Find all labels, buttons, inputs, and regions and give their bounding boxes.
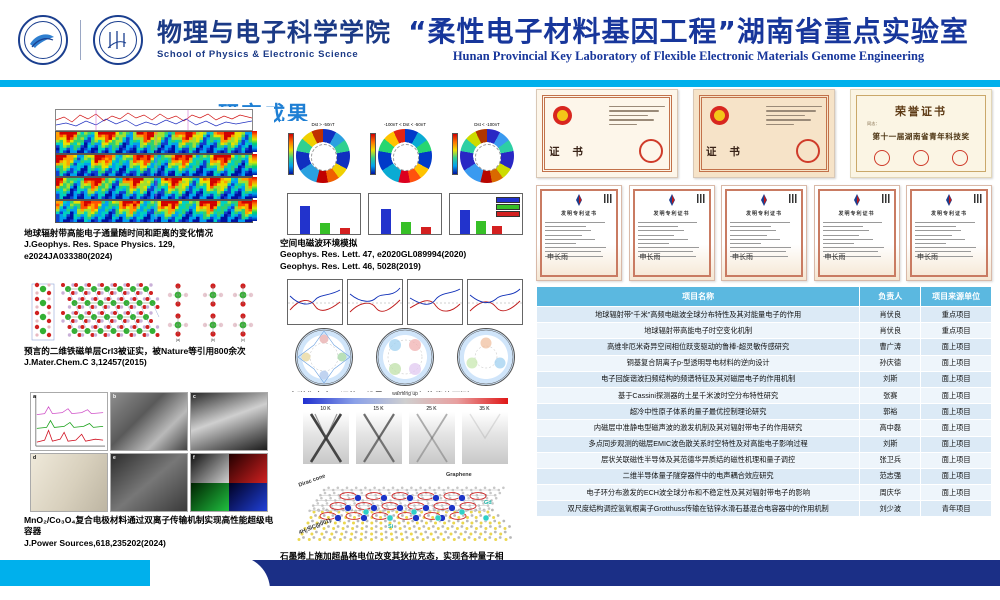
sphere-disc	[376, 328, 434, 386]
national-emblem-icon	[710, 106, 729, 125]
sphere-disc	[295, 328, 353, 386]
table-row: 内磁层中准静电型磁声波的激发机制及其对辐射带电子的作用研究高中磊面上项目	[537, 420, 992, 436]
bar-green	[401, 222, 411, 234]
cell-project-name: 内磁层中准静电型磁声波的激发机制及其对辐射带电子的作用研究	[537, 420, 860, 436]
band-panel-1	[287, 279, 343, 325]
cell-leader: 肖伏良	[860, 307, 921, 323]
swoosh-icon	[29, 30, 55, 50]
bar-red	[340, 228, 350, 234]
arpes-panel-row: 10 K 15 K	[303, 406, 508, 464]
certificate-row-patents: 发明专利证书 申长雨 发明专利证书 申长雨	[536, 185, 992, 281]
qr-code-icon	[604, 194, 613, 203]
patent-certificate-2: 发明专利证书 申长雨	[629, 185, 715, 281]
eds-quad-mn	[191, 483, 229, 512]
cell-source: 面上项目	[921, 339, 992, 355]
patent-certificate-4: 发明专利证书 申长雨	[814, 185, 900, 281]
figure-graphene-image: warming up 10 K	[280, 392, 530, 548]
figure-cri3-monolayer: (a)(b)(c) 预言的二维铁磁单层CrI3被证实，被Nature等引用800…	[24, 281, 274, 369]
arpes-panel-4: 35 K	[462, 406, 508, 464]
cell-source: 面上项目	[921, 468, 992, 484]
poster-root: 物理与电子科学学院 School of Physics & Electronic…	[0, 0, 1000, 600]
footer-navy-block	[160, 560, 1000, 586]
caption-cn: 地球辐射带高能电子通量随时间和距离的变化情况	[24, 228, 274, 239]
spectrogram-row-3	[55, 177, 253, 200]
lattice-label-gd: Gd	[484, 500, 492, 506]
figure-em-wave-env: Dst > -50nT -100nT < Dst < -50nT Dst < -…	[280, 121, 530, 272]
panel-sem-sheets: c	[190, 392, 268, 451]
patent-title: 发明专利证书	[630, 210, 714, 217]
certificate-title: 证 书	[549, 144, 588, 159]
polar-colorbar	[452, 133, 458, 175]
certificate-row-top: 证 书 证 书 荣誉证书 同志： 第十一届湖南省青年科技奖	[536, 89, 992, 178]
figure-graphene-superlattice: warming up 10 K	[280, 392, 530, 573]
cell-project-name: 电子回旋谐波扫频结构的频谱特征及其对磁层电子的作用机制	[537, 371, 860, 387]
table-row: 二维半导体量子隧穿器件中的电声耦合效应研究范志强面上项目	[537, 468, 992, 484]
school-seal-icon	[93, 15, 143, 65]
colorbar-1	[252, 131, 257, 152]
bar-panel-e	[368, 193, 442, 235]
panel-label: e	[113, 455, 116, 461]
qr-code-icon	[789, 194, 798, 203]
patent-certificate-3: 发明专利证书 申长雨	[721, 185, 807, 281]
certificate-title: 荣誉证书	[851, 103, 991, 119]
patent-signature: 申长雨	[547, 252, 568, 262]
poster-footer	[0, 560, 1000, 586]
col-leader: 负责人	[860, 287, 921, 307]
qr-code-icon	[974, 194, 983, 203]
polar-colorbar	[370, 133, 376, 175]
logo-divider	[80, 20, 81, 60]
figure-caption: 预言的二维铁磁单层CrI3被证实，被Nature等引用800余次 J.Mater…	[24, 346, 274, 369]
cell-leader: 张赛	[860, 387, 921, 403]
cnipa-logo-icon	[942, 194, 956, 206]
cell-project-name: 多点同步观测的磁层EMIC波色散关系时空特性及对高能电子影响过程	[537, 436, 860, 452]
cell-project-name: 层状关联磁性半导体及其范德华异质结的磁性机理和量子调控	[537, 452, 860, 468]
figure-cri3-image: (a)(b)(c)	[24, 281, 274, 343]
cell-project-name: 双尺度结构调控氢氧根离子Grotthuss传输在钴锌水滑石基混合电容器中的作用机…	[537, 501, 860, 517]
polar-colorbar	[288, 133, 294, 175]
panel-label: c	[193, 394, 196, 400]
lattice-schematic: 4H-SiC(0001) Graphene Gd Si Dirac cone	[296, 466, 514, 548]
patent-signature: 申长雨	[640, 252, 661, 262]
caption-ref-2: e2024JA033380(2024)	[24, 251, 274, 262]
caption-ref-2: Geophys. Res. Lett. 46, 5028(2019)	[280, 261, 530, 272]
arpes-panel-3: 25 K	[409, 406, 455, 464]
school-name-en: School of Physics & Electronic Science	[157, 49, 391, 60]
figure-caption: MnO₂/Co₃O₄复合电极材料通过双离子传输机制实现高性能超级电容器 J.Po…	[24, 515, 274, 549]
sphere-panel-1	[287, 328, 361, 388]
polar-title: Dst > -50nT	[287, 123, 359, 127]
bar-panel-f	[449, 193, 523, 235]
patent-certificate-5: 发明专利证书 申长雨	[906, 185, 992, 281]
col-project-name: 项目名称	[537, 287, 860, 307]
cell-leader: 孙庆德	[860, 355, 921, 371]
cell-project-name: 超冷中性原子体系的量子最优控制理论研究	[537, 404, 860, 420]
cell-leader: 刘斯	[860, 436, 921, 452]
figure-mno2-co3o4: a b c	[24, 392, 274, 549]
poster-body: 研究成果	[0, 89, 1000, 554]
patent-signature: 申长雨	[825, 252, 846, 262]
band-panel-2	[347, 279, 403, 325]
polar-panel-c: Dst < -100nT	[451, 123, 523, 189]
cnipa-logo-icon	[665, 194, 679, 206]
col-source: 项目来源单位	[921, 287, 992, 307]
polar-title: -100nT < Dst < -50nT	[369, 123, 441, 127]
arpes-panel-1: 10 K	[303, 406, 349, 464]
sem-panel-grid: a b c	[30, 392, 268, 512]
cell-leader: 高中磊	[860, 420, 921, 436]
cell-leader: 张卫兵	[860, 452, 921, 468]
poster-header: 物理与电子科学学院 School of Physics & Electronic…	[0, 0, 1000, 80]
patent-title: 发明专利证书	[907, 210, 991, 217]
panel-label: d	[33, 455, 36, 461]
table-row: 多点同步观测的磁层EMIC波色散关系时空特性及对高能电子影响过程刘斯面上项目	[537, 436, 992, 452]
cell-project-name: 地球辐射带高能电子时空变化机制	[537, 323, 860, 339]
certificate-title: 证 书	[706, 144, 745, 159]
certificate-seal-row	[851, 150, 991, 166]
bar-blue	[381, 209, 391, 234]
cell-source: 面上项目	[921, 387, 992, 403]
bar-blue	[460, 210, 470, 234]
polar-disc	[460, 129, 514, 183]
certificate-text-lines	[609, 106, 665, 128]
panel-xrd: a	[30, 392, 108, 451]
school-name-block: 物理与电子科学学院 School of Physics & Electronic…	[157, 20, 391, 60]
crystal-structure-diagram: (a)(b)(c)	[28, 281, 270, 343]
patent-certificate-1: 发明专利证书 申长雨	[536, 185, 622, 281]
table-row: 高维非厄米奇异空间相位跃变驱动的鲁棒-超灵敏传感研究曹广涛面上项目	[537, 339, 992, 355]
lattice-label-si: Si	[388, 524, 393, 530]
table-row: 铜基复合阴离子p-型透明导电材料的逆向设计孙庆德面上项目	[537, 355, 992, 371]
sphere-panel-3	[449, 328, 523, 388]
bar-legend	[496, 197, 520, 218]
award-certificate-1: 证 书	[536, 89, 678, 178]
colorbar-2	[252, 154, 257, 175]
caption-cn: 预言的二维铁磁单层CrI3被证实，被Nature等引用800余次	[24, 346, 274, 357]
red-stamp-icon	[639, 139, 663, 163]
patent-title: 发明专利证书	[815, 210, 899, 217]
band-panel-4	[467, 279, 523, 325]
institution-logos: 物理与电子科学学院 School of Physics & Electronic…	[0, 15, 391, 65]
certificate-subtitle: 第十一届湖南省青年科技奖	[851, 131, 991, 142]
panel-hrtem: e	[110, 453, 188, 512]
header-accent-bar	[0, 80, 1000, 87]
cell-project-name: 地球辐射带“千米”高频电磁波全球分布特性及其对能量电子的作用	[537, 307, 860, 323]
certificates-column: 证 书 证 书 荣誉证书 同志： 第十一届湖南省青年科技奖	[536, 89, 992, 281]
arpes-image	[462, 412, 508, 464]
bar-panel-row	[287, 193, 523, 235]
cell-source: 面上项目	[921, 404, 992, 420]
cell-source: 重点项目	[921, 323, 992, 339]
cell-source: 面上项目	[921, 371, 992, 387]
band-panel-row	[287, 279, 523, 325]
figure-em-wave-image: Dst > -50nT -100nT < Dst < -50nT Dst < -…	[280, 121, 530, 235]
table-row: 基于Cassini探测器的土星千米波时空分布特性研究张赛面上项目	[537, 387, 992, 403]
bar-green	[476, 221, 486, 234]
patent-signature: 申长雨	[917, 252, 938, 262]
polar-panel-a: Dst > -50nT	[287, 123, 359, 189]
table-body: 地球辐射带“千米”高频电磁波全球分布特性及其对能量电子的作用肖伏良重点项目地球辐…	[537, 307, 992, 517]
certificate-text-lines	[766, 106, 822, 128]
projects-table: 项目名称 负责人 项目来源单位 地球辐射带“千米”高频电磁波全球分布特性及其对能…	[536, 286, 992, 517]
red-stamp-icon	[796, 139, 820, 163]
spectrogram-row-4	[55, 200, 253, 223]
lab-title-cn: “柔性电子材料基因工程”湖南省重点实验室	[391, 16, 986, 47]
cell-project-name: 铜基复合阴离子p-型透明导电材料的逆向设计	[537, 355, 860, 371]
eds-quad-overview	[191, 454, 229, 483]
cell-leader: 肖伏良	[860, 323, 921, 339]
temperature-gradient-bar	[303, 398, 508, 404]
university-seal-icon	[18, 15, 68, 65]
cell-source: 面上项目	[921, 436, 992, 452]
panel-label: a	[33, 394, 36, 400]
cell-project-name: 电子环分布激发的ECH波全球分布和不稳定性及其对辐射带电子的影响	[537, 485, 860, 501]
arpes-panel-2: 15 K	[356, 406, 402, 464]
cell-source: 面上项目	[921, 420, 992, 436]
polar-panel-row: Dst > -50nT -100nT < Dst < -50nT Dst < -…	[287, 123, 523, 189]
svg-text:(a): (a)	[176, 338, 180, 342]
cell-source: 青年项目	[921, 501, 992, 517]
honor-certificate: 荣誉证书 同志： 第十一届湖南省青年科技奖	[850, 89, 992, 178]
cell-source: 面上项目	[921, 355, 992, 371]
figure-qah-image	[280, 279, 530, 388]
cnipa-logo-icon	[572, 194, 586, 206]
panel-eds-mapping: f	[190, 453, 268, 512]
cell-leader: 刘少波	[860, 501, 921, 517]
cell-source: 面上项目	[921, 452, 992, 468]
cnipa-logo-icon	[850, 194, 864, 206]
qr-code-icon	[882, 194, 891, 203]
eds-quad-o	[229, 483, 267, 512]
caption-ref-1: Geophys. Res. Lett. 47, e2020GL089994(20…	[280, 249, 530, 260]
arpes-image	[303, 412, 349, 464]
bar-blue	[300, 206, 310, 234]
sphere-panel-2	[368, 328, 442, 388]
caption-ref-1: J.Mater.Chem.C 3,12457(2015)	[24, 357, 274, 368]
patent-title: 发明专利证书	[722, 210, 806, 217]
table-row: 地球辐射带高能电子时空变化机制肖伏良重点项目	[537, 323, 992, 339]
cell-project-name: 二维半导体量子隧穿器件中的电声耦合效应研究	[537, 468, 860, 484]
figure-radiation-belt: 地球辐射带高能电子通量随时间和距离的变化情况 J.Geophys. Res. S…	[24, 107, 274, 262]
polar-disc	[296, 129, 350, 183]
table-header-row: 项目名称 负责人 项目来源单位	[537, 287, 992, 307]
certificate-recipient-line: 同志：	[867, 121, 880, 127]
cell-leader: 曹广涛	[860, 339, 921, 355]
school-monogram-icon	[104, 30, 130, 50]
eds-quad-co	[229, 454, 267, 483]
qr-code-icon	[697, 194, 706, 203]
table-row: 电子回旋谐波扫频结构的频谱特征及其对磁层电子的作用机制刘斯面上项目	[537, 371, 992, 387]
cell-project-name: 高维非厄米奇异空间相位跃变驱动的鲁棒-超灵敏传感研究	[537, 339, 860, 355]
caption-cn: 空间电磁波环境模拟	[280, 238, 530, 249]
colorbar-3	[252, 177, 257, 198]
cell-source: 重点项目	[921, 307, 992, 323]
figure-caption: 空间电磁波环境模拟 Geophys. Res. Lett. 47, e2020G…	[280, 238, 530, 272]
svg-text:(b): (b)	[211, 338, 215, 342]
national-emblem-icon	[553, 106, 572, 125]
bar-panel-d	[287, 193, 361, 235]
table-row: 地球辐射带“千米”高频电磁波全球分布特性及其对能量电子的作用肖伏良重点项目	[537, 307, 992, 323]
patent-title: 发明专利证书	[537, 210, 621, 217]
arpes-image	[356, 412, 402, 464]
cell-source: 面上项目	[921, 485, 992, 501]
lab-title-en: Hunan Provincial Key Laboratory of Flexi…	[391, 49, 986, 64]
table-row: 层状关联磁性半导体及其范德华异质结的磁性机理和量子调控张卫兵面上项目	[537, 452, 992, 468]
figure-caption: 地球辐射带高能电子通量随时间和距离的变化情况 J.Geophys. Res. S…	[24, 228, 274, 262]
spectrogram-row-2	[55, 154, 253, 177]
cell-leader: 范志强	[860, 468, 921, 484]
lab-title-block: “柔性电子材料基因工程”湖南省重点实验室 Hunan Provincial Ke…	[391, 16, 1000, 64]
cnipa-logo-icon	[757, 194, 771, 206]
panel-tem: d	[30, 453, 108, 512]
bar-red	[421, 227, 431, 234]
caption-ref-1: J.Power Sources,618,235202(2024)	[24, 538, 274, 549]
table-row: 超冷中性原子体系的量子最优控制理论研究郭裕面上项目	[537, 404, 992, 420]
flux-timeseries-panel	[55, 109, 253, 131]
colorbar-4	[252, 200, 257, 221]
polar-title: Dst < -100nT	[451, 123, 523, 127]
cell-leader: 周庆华	[860, 485, 921, 501]
polar-panel-b: -100nT < Dst < -50nT	[369, 123, 441, 189]
lattice-label-graphene: Graphene	[446, 472, 472, 478]
patent-signature: 申长雨	[732, 252, 753, 262]
bar-red	[492, 226, 502, 234]
figure-mno2-image: a b c	[24, 392, 274, 512]
arpes-image	[409, 412, 455, 464]
sphere-panel-row	[287, 328, 523, 388]
svg-text:(c): (c)	[241, 338, 245, 342]
bar-green	[320, 223, 330, 234]
panel-label: b	[113, 394, 116, 400]
cell-project-name: 基于Cassini探测器的土星千米波时空分布特性研究	[537, 387, 860, 403]
panel-label: f	[193, 455, 195, 461]
footer-divider-curve	[150, 560, 270, 586]
cell-leader: 郭裕	[860, 404, 921, 420]
sphere-disc	[457, 328, 515, 386]
polar-disc	[378, 129, 432, 183]
band-panel-3	[407, 279, 463, 325]
cell-leader: 刘斯	[860, 371, 921, 387]
panel-sem-nanowires: b	[110, 392, 188, 451]
award-certificate-2: 证 书	[693, 89, 835, 178]
caption-ref-1: J.Geophys. Res. Space Physics. 129,	[24, 239, 274, 250]
table-row: 电子环分布激发的ECH波全球分布和不稳定性及其对辐射带电子的影响周庆华面上项目	[537, 485, 992, 501]
school-name-cn: 物理与电子科学学院	[157, 20, 391, 46]
spectrogram-row-1	[55, 131, 253, 154]
figure-radiation-belt-image	[24, 107, 274, 225]
table-row: 双尺度结构调控氢氧根离子Grotthuss传输在钴锌水滑石基混合电容器中的作用机…	[537, 501, 992, 517]
caption-cn: MnO₂/Co₃O₄复合电极材料通过双离子传输机制实现高性能超级电容器	[24, 515, 274, 538]
